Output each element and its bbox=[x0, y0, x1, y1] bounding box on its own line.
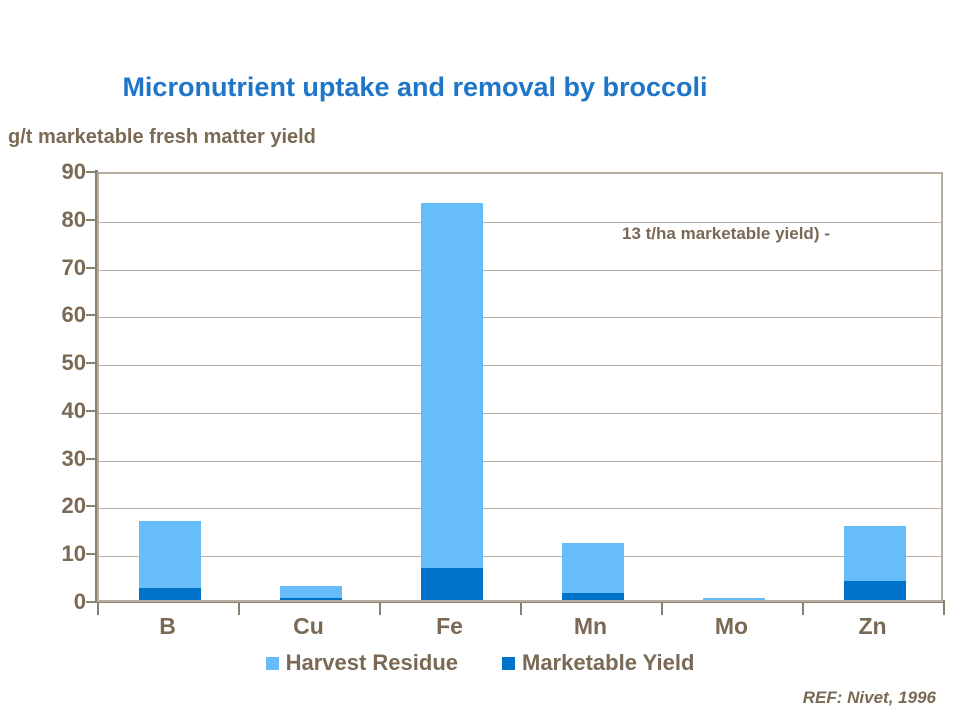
legend-label: Harvest Residue bbox=[286, 650, 458, 676]
legend-swatch-icon bbox=[266, 657, 279, 670]
bar-segment-marketable-yield[interactable] bbox=[421, 568, 483, 600]
bar-segment-marketable-yield[interactable] bbox=[844, 581, 906, 600]
bar-stack[interactable] bbox=[703, 598, 765, 600]
y-axis-tick-mark bbox=[86, 362, 96, 364]
y-axis-tick-mark bbox=[86, 314, 96, 316]
y-axis-tick-label: 90 bbox=[16, 161, 86, 183]
bar-stack[interactable] bbox=[280, 586, 342, 600]
y-axis-tick-label: 0 bbox=[16, 591, 86, 613]
y-axis-tick-label: 80 bbox=[16, 209, 86, 231]
x-axis-label-fe: Fe bbox=[380, 613, 520, 640]
y-axis-tick-label: 30 bbox=[16, 448, 86, 470]
x-axis-label-mo: Mo bbox=[662, 613, 802, 640]
y-axis-tick-label: 60 bbox=[16, 304, 86, 326]
y-axis-tick-mark bbox=[86, 601, 96, 603]
bar-group-fe[interactable] bbox=[381, 174, 522, 600]
bar-segment-harvest-residue[interactable] bbox=[844, 526, 906, 581]
legend-swatch-icon bbox=[502, 657, 515, 670]
bar-segment-marketable-yield[interactable] bbox=[139, 588, 201, 600]
legend-item-harvest-residue[interactable]: Harvest Residue bbox=[266, 650, 458, 676]
bar-group-b[interactable] bbox=[99, 174, 240, 600]
y-axis-tick-mark bbox=[86, 505, 96, 507]
y-axis: 0102030405060708090 bbox=[0, 0, 86, 720]
plot-area: 13 t/ha marketable yield) - bbox=[97, 172, 943, 602]
x-axis-label-zn: Zn bbox=[803, 613, 943, 640]
y-axis-tick-label: 70 bbox=[16, 257, 86, 279]
x-axis-label-b: B bbox=[98, 613, 238, 640]
y-axis-tick-mark bbox=[86, 267, 96, 269]
legend-label: Marketable Yield bbox=[522, 650, 694, 676]
bar-stack[interactable] bbox=[139, 521, 201, 600]
chart-title: Micronutrient uptake and removal by broc… bbox=[0, 72, 830, 103]
y-axis-tick-mark bbox=[86, 553, 96, 555]
bar-segment-marketable-yield[interactable] bbox=[280, 598, 342, 600]
bar-segment-marketable-yield[interactable] bbox=[562, 593, 624, 600]
chart-legend: Harvest ResidueMarketable Yield bbox=[0, 650, 960, 676]
y-axis-tick-mark bbox=[86, 458, 96, 460]
y-axis-tick-mark bbox=[86, 410, 96, 412]
bar-segment-harvest-residue[interactable] bbox=[139, 521, 201, 587]
y-axis-tick-mark bbox=[86, 219, 96, 221]
bar-segment-harvest-residue[interactable] bbox=[280, 586, 342, 598]
y-axis-tick-label: 20 bbox=[16, 495, 86, 517]
y-axis-tick-label: 50 bbox=[16, 352, 86, 374]
y-axis-tick-label: 40 bbox=[16, 400, 86, 422]
y-axis-tick-label: 10 bbox=[16, 543, 86, 565]
reference-note: REF: Nivet, 1996 bbox=[803, 688, 936, 708]
bar-segment-harvest-residue[interactable] bbox=[421, 203, 483, 569]
bar-stack[interactable] bbox=[421, 203, 483, 601]
x-axis-label-mn: Mn bbox=[521, 613, 661, 640]
bar-segment-harvest-residue[interactable] bbox=[703, 598, 765, 600]
bar-group-cu[interactable] bbox=[240, 174, 381, 600]
x-axis-tick-mark bbox=[943, 602, 945, 615]
bar-stack[interactable] bbox=[844, 526, 906, 600]
bar-stack[interactable] bbox=[562, 543, 624, 600]
bar-segment-harvest-residue[interactable] bbox=[562, 543, 624, 593]
plot-annotation: 13 t/ha marketable yield) - bbox=[622, 224, 830, 244]
y-axis-tick-mark bbox=[86, 171, 96, 173]
x-axis-label-cu: Cu bbox=[239, 613, 379, 640]
legend-item-marketable-yield[interactable]: Marketable Yield bbox=[502, 650, 694, 676]
